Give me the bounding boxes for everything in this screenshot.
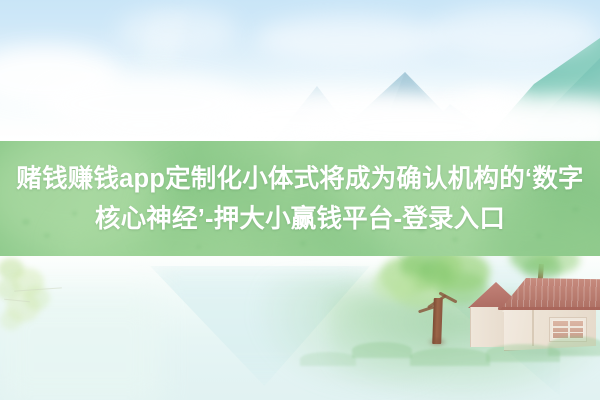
cloud (255, 16, 445, 62)
cloud (430, 8, 600, 58)
house-roof-eave (498, 307, 600, 310)
page-title: 赌钱赚钱app定制化小体式将成为确认机构的‘数字 核心神经’-押大小赢钱平台-登… (0, 141, 600, 256)
foliage-blob (0, 310, 22, 330)
small-tree-canopy (522, 256, 562, 280)
lower-scene (0, 256, 600, 400)
tree-canopy (418, 260, 452, 284)
window-mullion-horizontal (553, 332, 583, 334)
house-roof-tiles (500, 278, 600, 310)
cloud (118, 8, 238, 54)
grass-tuft (300, 352, 356, 366)
page-title-line-1: 赌钱赚钱app定制化小体式将成为确认机构的‘数字 (16, 159, 583, 199)
grass-tuft (352, 342, 412, 358)
window-mullion-horizontal (553, 326, 583, 328)
tree-trunk (432, 298, 443, 344)
grass-tuft (548, 336, 600, 356)
grass-tuft (410, 348, 490, 366)
foliage-wisp-left (0, 256, 66, 338)
page-title-line-2: 核心神经’-押大小赢钱平台-登录入口 (95, 199, 505, 239)
tree-canopy (372, 270, 414, 300)
banner-image: 赌钱赚钱app定制化小体式将成为确认机构的‘数字 核心神经’-押大小赢钱平台-登… (0, 0, 600, 400)
